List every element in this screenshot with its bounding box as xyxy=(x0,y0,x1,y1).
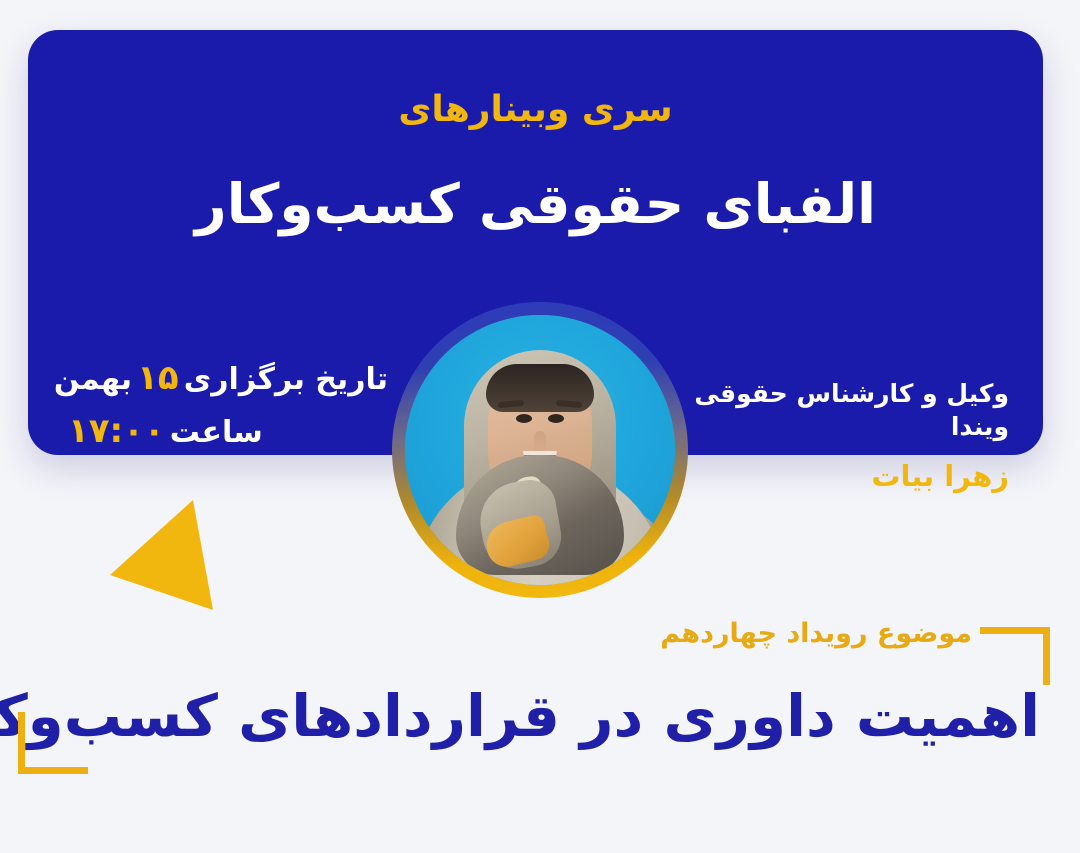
bracket-vertical-line xyxy=(1043,627,1050,685)
speaker-avatar xyxy=(392,302,688,598)
photo-nose xyxy=(534,431,546,453)
photo-eye-left xyxy=(516,414,532,423)
date-label: تاریخ برگزاری xyxy=(184,362,388,397)
date-month: بهمن xyxy=(54,362,132,397)
bracket-horizontal-line xyxy=(980,627,1050,634)
schedule-time-row: ساعت ۱۷:۰۰ xyxy=(68,413,388,450)
photo-eye-right xyxy=(548,414,564,423)
date-day: ۱۵ xyxy=(137,358,179,398)
time-label: ساعت xyxy=(170,415,263,450)
bracket-horizontal-line xyxy=(18,767,88,774)
event-topic-label: موضوع رویداد چهاردهم xyxy=(660,618,972,649)
schedule-block: تاریخ برگزاری ۱۵ بهمن ساعت ۱۷:۰۰ xyxy=(68,360,388,451)
webinar-series-title: الفبای حقوقی کسب‌وکار xyxy=(28,170,1043,239)
bracket-vertical-line xyxy=(18,712,25,770)
time-value: ۱۷:۰۰ xyxy=(68,411,165,451)
gold-triangle-icon xyxy=(95,485,235,625)
series-label: سری وبینارهای xyxy=(28,88,1043,131)
event-headline: اهمیت داوری در قراردادهای کسب‌وکار xyxy=(40,680,1040,753)
webinar-poster: سری وبینارهای الفبای حقوقی کسب‌وکار تاری… xyxy=(0,0,1080,853)
corner-bracket-bottom-left-icon xyxy=(18,712,88,774)
avatar-photo xyxy=(405,315,675,585)
schedule-date-row: تاریخ برگزاری ۱۵ بهمن xyxy=(68,360,388,397)
